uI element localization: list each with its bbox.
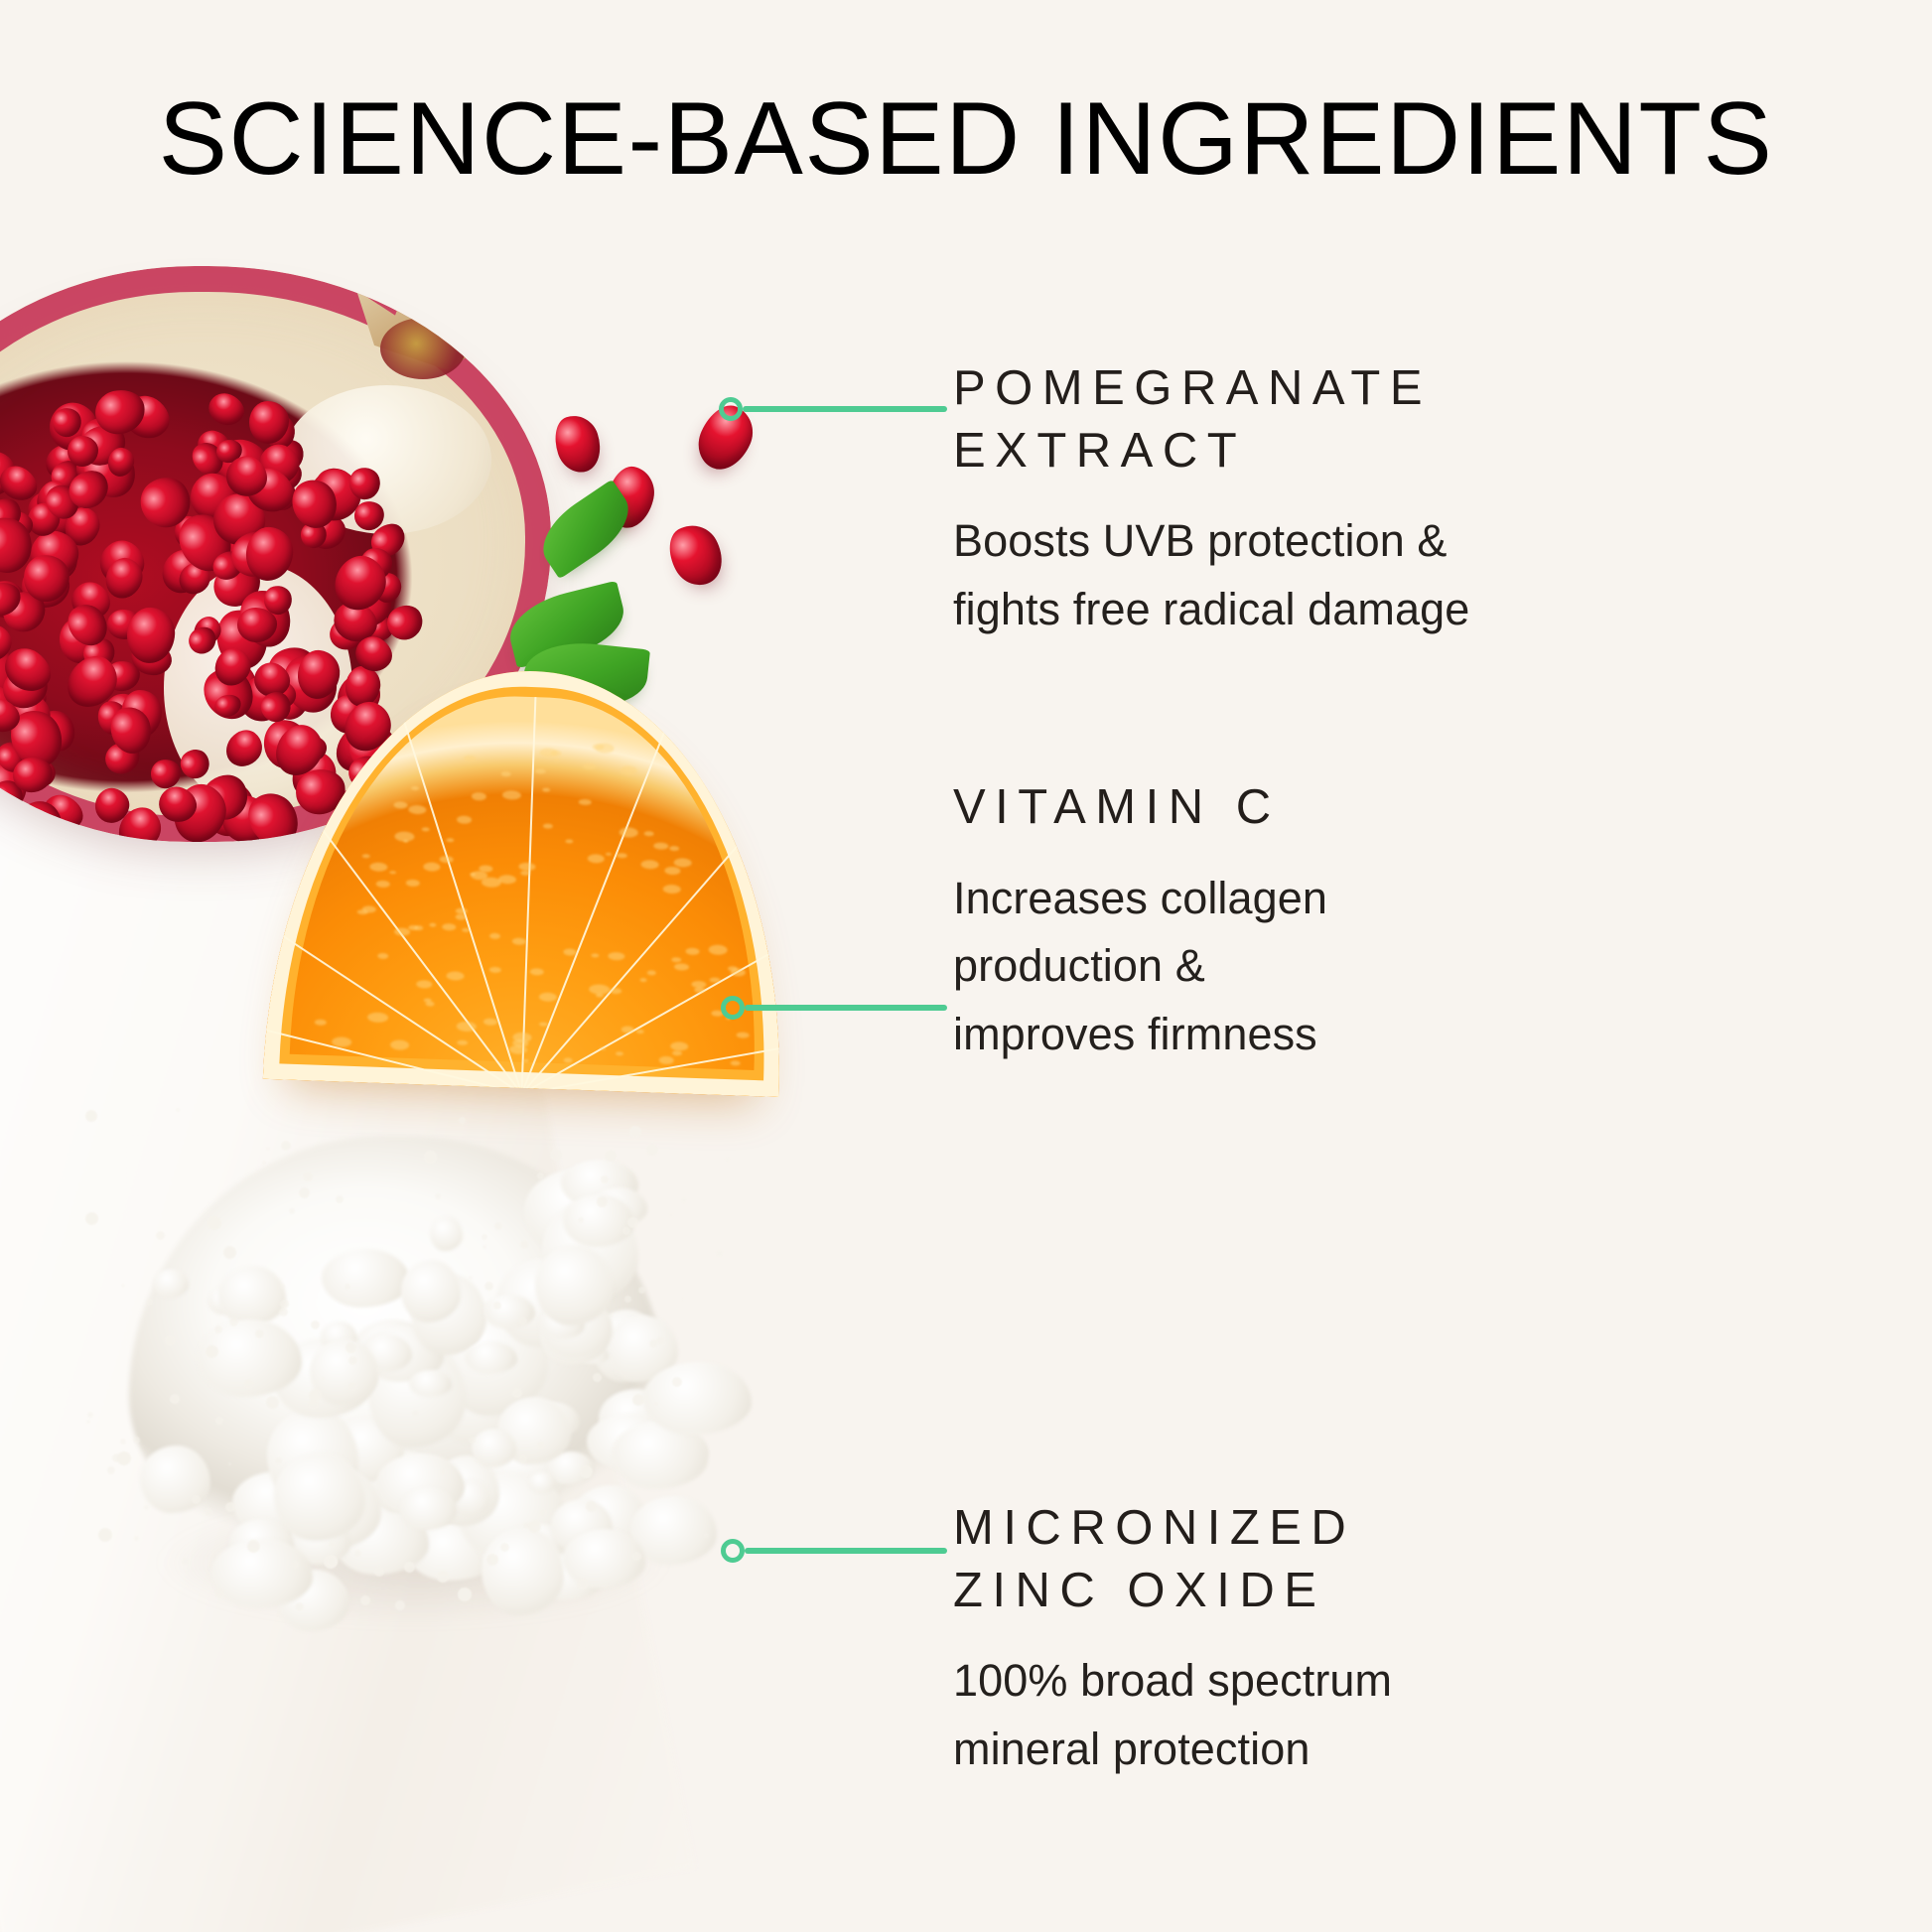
powder-speck [632, 1394, 644, 1406]
zinc-oxide-powder-photo [60, 1076, 745, 1632]
orange-pulp [731, 1060, 741, 1065]
page-title: SCIENCE-BASED INGREDIENTS [0, 85, 1932, 194]
orange-pulp [579, 799, 592, 805]
powder-clump [218, 1266, 286, 1325]
orange-pulp [424, 998, 432, 1002]
orange-pulp [367, 1012, 388, 1023]
powder-speck [215, 1417, 223, 1425]
orange-pulp [639, 978, 646, 982]
powder-speck [632, 1552, 641, 1561]
powder-speck [289, 1208, 295, 1214]
orange-pulp [694, 987, 705, 993]
powder-speck [672, 1377, 682, 1387]
powder-clump [482, 1527, 564, 1615]
orange-pulp [539, 1022, 548, 1026]
powder-speck [528, 1520, 541, 1533]
orange-pulp [429, 923, 436, 927]
powder-speck [281, 1141, 291, 1151]
orange-pulp [671, 957, 681, 962]
pomegranate-crown-core [380, 318, 466, 379]
orange-pulp [563, 948, 576, 955]
powder-speck [374, 1567, 384, 1577]
orange-pulp [674, 963, 689, 971]
powder-speck [345, 1284, 350, 1290]
powder-speck [376, 1367, 381, 1372]
connector-rule [745, 1005, 947, 1011]
powder-clump [430, 1216, 463, 1251]
powder-speck [262, 1161, 266, 1165]
orange-pulp [457, 1022, 477, 1033]
powder-clump [472, 1429, 516, 1467]
powder-speck [280, 1284, 285, 1289]
powder-speck [537, 1173, 544, 1179]
orange-pulp [498, 875, 516, 885]
orange-pulp [457, 1040, 468, 1045]
ingredient-block-zinc-oxide: MICRONIZED ZINC OXIDE 100% broad spectru… [953, 1497, 1588, 1783]
powder-clump [322, 1249, 410, 1308]
powder-speck [435, 1193, 441, 1199]
orange-pulp [663, 885, 681, 895]
orange-pulp [440, 856, 454, 863]
orange-pulp [479, 865, 492, 872]
orange-pulp [408, 925, 418, 930]
powder-speck [170, 1394, 180, 1404]
powder-speck [484, 1282, 493, 1291]
powder-speck [275, 1457, 282, 1464]
powder-clump [400, 1487, 457, 1530]
powder-speck [134, 1536, 139, 1541]
powder-speck [586, 1501, 597, 1512]
powder-speck [605, 1150, 617, 1162]
powder-speck [207, 1216, 221, 1230]
orange-pulp [462, 928, 470, 932]
orange-pulp [542, 787, 550, 791]
orange-pulp [539, 992, 557, 1002]
powder-speck [112, 1453, 121, 1462]
pomegranate-seed [548, 410, 608, 479]
powder-speck [121, 1284, 125, 1288]
orange-pulp [685, 948, 699, 955]
powder-speck [182, 1558, 189, 1565]
powder-speck [247, 1540, 260, 1553]
orange-pulp [502, 790, 521, 800]
powder-speck [440, 1468, 447, 1475]
powder-speck [669, 1213, 673, 1217]
orange-pulp [539, 748, 557, 758]
powder-clump [643, 1362, 752, 1435]
powder-speck [716, 1250, 723, 1257]
orange-pulp [389, 871, 396, 874]
powder-speck [165, 1335, 176, 1346]
powder-speck [228, 1462, 231, 1465]
orange-pulp [446, 971, 464, 981]
powder-speck [624, 1296, 631, 1303]
powder-speck [681, 1197, 687, 1203]
powder-speck [107, 1466, 115, 1474]
orange-pulp [422, 827, 430, 831]
orange-pulp [456, 907, 468, 913]
powder-speck [214, 1325, 222, 1333]
product-imagery-collage [0, 0, 953, 1932]
powder-clump [401, 1260, 461, 1322]
powder-speck [255, 1329, 264, 1338]
powder-speck [366, 1466, 370, 1470]
powder-clump [535, 1245, 613, 1325]
powder-speck [629, 1126, 641, 1138]
orange-pulp [728, 966, 738, 971]
powder-speck [133, 1437, 140, 1444]
orange-pulp [737, 1032, 750, 1037]
powder-speck [519, 1317, 527, 1325]
orange-pulp [489, 933, 500, 939]
orange-pulp [408, 805, 426, 815]
powder-speck [299, 1187, 310, 1198]
orange-pulp [616, 1051, 623, 1055]
orange-pulp [472, 792, 486, 801]
powder-clump [465, 1341, 517, 1374]
powder-speck [87, 1412, 93, 1418]
powder-speck [295, 1602, 304, 1611]
powder-speck [577, 1579, 588, 1589]
powder-speck [85, 1212, 98, 1225]
powder-speck [681, 1298, 684, 1301]
orange-pulp [644, 831, 654, 836]
powder-speck [85, 1110, 97, 1122]
orange-pulp [647, 970, 656, 975]
orange-pulp [610, 988, 621, 994]
powder-speck [206, 1345, 218, 1358]
powder-speck [146, 1299, 153, 1306]
orange-pulp [640, 860, 658, 870]
orange-pulp [583, 763, 596, 769]
orange-pulp [606, 853, 612, 856]
page-title-light: INGREDIENTS [1022, 81, 1774, 197]
orange-pulp [564, 1057, 573, 1062]
orange-pulp [672, 1050, 682, 1055]
orange-pulp [512, 1039, 528, 1048]
powder-speck [483, 1245, 486, 1249]
powder-speck [404, 1562, 415, 1573]
powder-speck [622, 1227, 630, 1235]
orange-pulp [406, 880, 420, 887]
orange-pulp [483, 1019, 497, 1026]
powder-clump [483, 1295, 535, 1328]
powder-speck [120, 1439, 126, 1445]
powder-speck [597, 1196, 608, 1207]
powder-speck [266, 1147, 270, 1151]
ingredient-heading: VITAMIN C [953, 776, 1588, 839]
powder-clump [528, 1472, 556, 1493]
orange-pulp [315, 1020, 327, 1026]
powder-speck [580, 1465, 593, 1478]
powder-speck [512, 1388, 522, 1398]
orange-pulp [669, 846, 679, 851]
powder-speck [348, 1382, 357, 1391]
powder-speck [593, 1373, 602, 1382]
orange-pulp [653, 842, 668, 850]
orange-pulp [470, 873, 476, 876]
powder-speck [176, 1108, 180, 1112]
powder-speck [345, 1342, 356, 1353]
powder-speck [156, 1231, 165, 1240]
powder-clump [153, 1269, 189, 1298]
powder-speck [519, 1455, 527, 1463]
connector-line-pomegranate [719, 394, 947, 424]
orange-pulp [670, 1041, 688, 1051]
orange-pulp [456, 913, 467, 919]
orange-pulp [446, 838, 454, 842]
orange-pulp [664, 867, 680, 876]
orange-pulp [362, 854, 370, 858]
orange-pulp [595, 743, 614, 754]
powder-speck [280, 1300, 289, 1309]
powder-speck [437, 1571, 449, 1583]
ingredient-block-pomegranate: POMEGRANATE EXTRACT Boosts UVB protectio… [953, 357, 1588, 643]
powder-speck [329, 1541, 336, 1548]
powder-speck [225, 1502, 235, 1512]
powder-speck [336, 1195, 344, 1203]
orange-pulp [512, 937, 526, 944]
powder-speck [550, 1149, 562, 1161]
powder-speck [725, 1157, 730, 1162]
orange-pulp [621, 1026, 634, 1033]
orange-pulp [554, 759, 559, 761]
powder-speck [223, 1246, 236, 1259]
connector-rule [745, 1548, 947, 1554]
ingredients-infographic: SCIENCE-BASED INGREDIENTS POMEGRANATE EX… [0, 0, 1932, 1932]
ingredient-description: Boosts UVB protection & fights free radi… [953, 507, 1588, 643]
connector-line-vitamin-c [721, 993, 947, 1023]
powder-speck [646, 1144, 658, 1156]
powder-speck [469, 1276, 473, 1280]
powder-clump [274, 1452, 365, 1541]
powder-speck [360, 1595, 370, 1605]
orange-pulp [369, 862, 387, 872]
orange-pulp [464, 756, 476, 761]
powder-speck [291, 1561, 299, 1569]
powder-speck [214, 1588, 224, 1598]
powder-speck [303, 1172, 313, 1181]
powder-speck [354, 1550, 361, 1557]
orange-pulp [535, 768, 546, 773]
orange-pulp [518, 863, 535, 872]
powder-speck [458, 1587, 472, 1601]
powder-speck [601, 1175, 609, 1183]
powder-speck [611, 1314, 614, 1317]
orange-pulp [621, 765, 637, 775]
powder-speck [539, 1509, 547, 1517]
powder-speck [412, 1410, 419, 1417]
orange-pulp [411, 786, 419, 790]
powder-speck [459, 1117, 466, 1124]
page-title-dark: SCIENCE-BASED [159, 81, 1022, 197]
powder-speck [500, 1543, 509, 1552]
powder-speck [309, 1389, 322, 1402]
powder-speck [520, 1240, 529, 1249]
orange-pulp [501, 771, 511, 776]
connector-line-zinc-oxide [721, 1536, 947, 1566]
orange-pulp [416, 980, 432, 989]
orange-pulp [617, 853, 627, 858]
powder-speck [311, 1320, 320, 1329]
powder-speck [327, 1556, 338, 1567]
powder-clump [140, 1446, 210, 1513]
connector-dot-icon [721, 1539, 745, 1563]
orange-pulp [543, 823, 553, 828]
powder-speck [649, 1339, 658, 1348]
orange-pulp [591, 953, 599, 957]
orange-pulp [523, 1059, 529, 1062]
orange-pulp [565, 839, 573, 843]
powder-speck [205, 1508, 212, 1516]
powder-speck [279, 1308, 288, 1316]
ingredient-block-vitamin-c: VITAMIN C Increases collagen production … [953, 776, 1588, 1068]
powder-clump [409, 1370, 452, 1397]
orange-pulp [596, 993, 604, 997]
powder-speck [493, 1302, 501, 1310]
powder-speck [192, 1495, 201, 1504]
orange-pulp [600, 1047, 606, 1050]
powder-speck [469, 1437, 476, 1444]
connector-rule [743, 406, 947, 412]
orange-pulp [489, 967, 501, 973]
orange-pulp [530, 968, 544, 975]
orange-pulp [588, 854, 605, 864]
orange-pulp [659, 1056, 674, 1065]
orange-pulp [674, 858, 692, 868]
ingredient-description: 100% broad spectrum mineral protection [953, 1647, 1588, 1783]
powder-speck [322, 1377, 325, 1380]
powder-speck [98, 1528, 112, 1542]
orange-pulp [520, 871, 530, 876]
orange-pulp [708, 944, 727, 955]
powder-speck [86, 1420, 90, 1424]
powder-speck [654, 1402, 658, 1406]
powder-speck [486, 1554, 498, 1566]
powder-speck [390, 1157, 395, 1162]
orange-pulp [377, 953, 388, 959]
powder-speck [494, 1222, 502, 1230]
orange-pulp [442, 923, 456, 930]
powder-speck [537, 1442, 545, 1449]
ingredient-heading: POMEGRANATE EXTRACT [953, 357, 1588, 482]
powder-speck [348, 1356, 357, 1365]
orange-pulp [393, 801, 407, 808]
powder-speck [144, 1505, 149, 1510]
powder-speck [424, 1151, 437, 1164]
orange-pulp [423, 862, 440, 872]
ingredient-description: Increases collagen production & improves… [953, 865, 1588, 1068]
powder-speck [638, 1287, 645, 1294]
orange-pulp [457, 815, 472, 824]
powder-speck [229, 1317, 238, 1326]
orange-pulp [394, 831, 414, 842]
orange-pulp [332, 1036, 351, 1047]
powder-speck [578, 1217, 584, 1223]
powder-clump [211, 1539, 313, 1608]
powder-speck [627, 1217, 638, 1228]
powder-speck [199, 1365, 204, 1370]
pomegranate-seed [659, 516, 732, 594]
powder-speck [244, 1379, 254, 1389]
orange-pulp [710, 977, 721, 982]
orange-pulp [357, 909, 368, 914]
orange-pulp [608, 952, 624, 961]
powder-speck [704, 1533, 709, 1538]
connector-dot-icon [719, 397, 743, 421]
orange-pulp [394, 927, 410, 936]
powder-speck [266, 1396, 279, 1409]
powder-speck [482, 1234, 487, 1240]
powder-speck [395, 1600, 405, 1610]
orange-pulp [636, 1030, 644, 1034]
connector-dot-icon [721, 996, 745, 1020]
orange-pulp [376, 881, 390, 888]
ingredient-heading: MICRONIZED ZINC OXIDE [953, 1497, 1588, 1621]
orange-pulp [620, 827, 638, 838]
